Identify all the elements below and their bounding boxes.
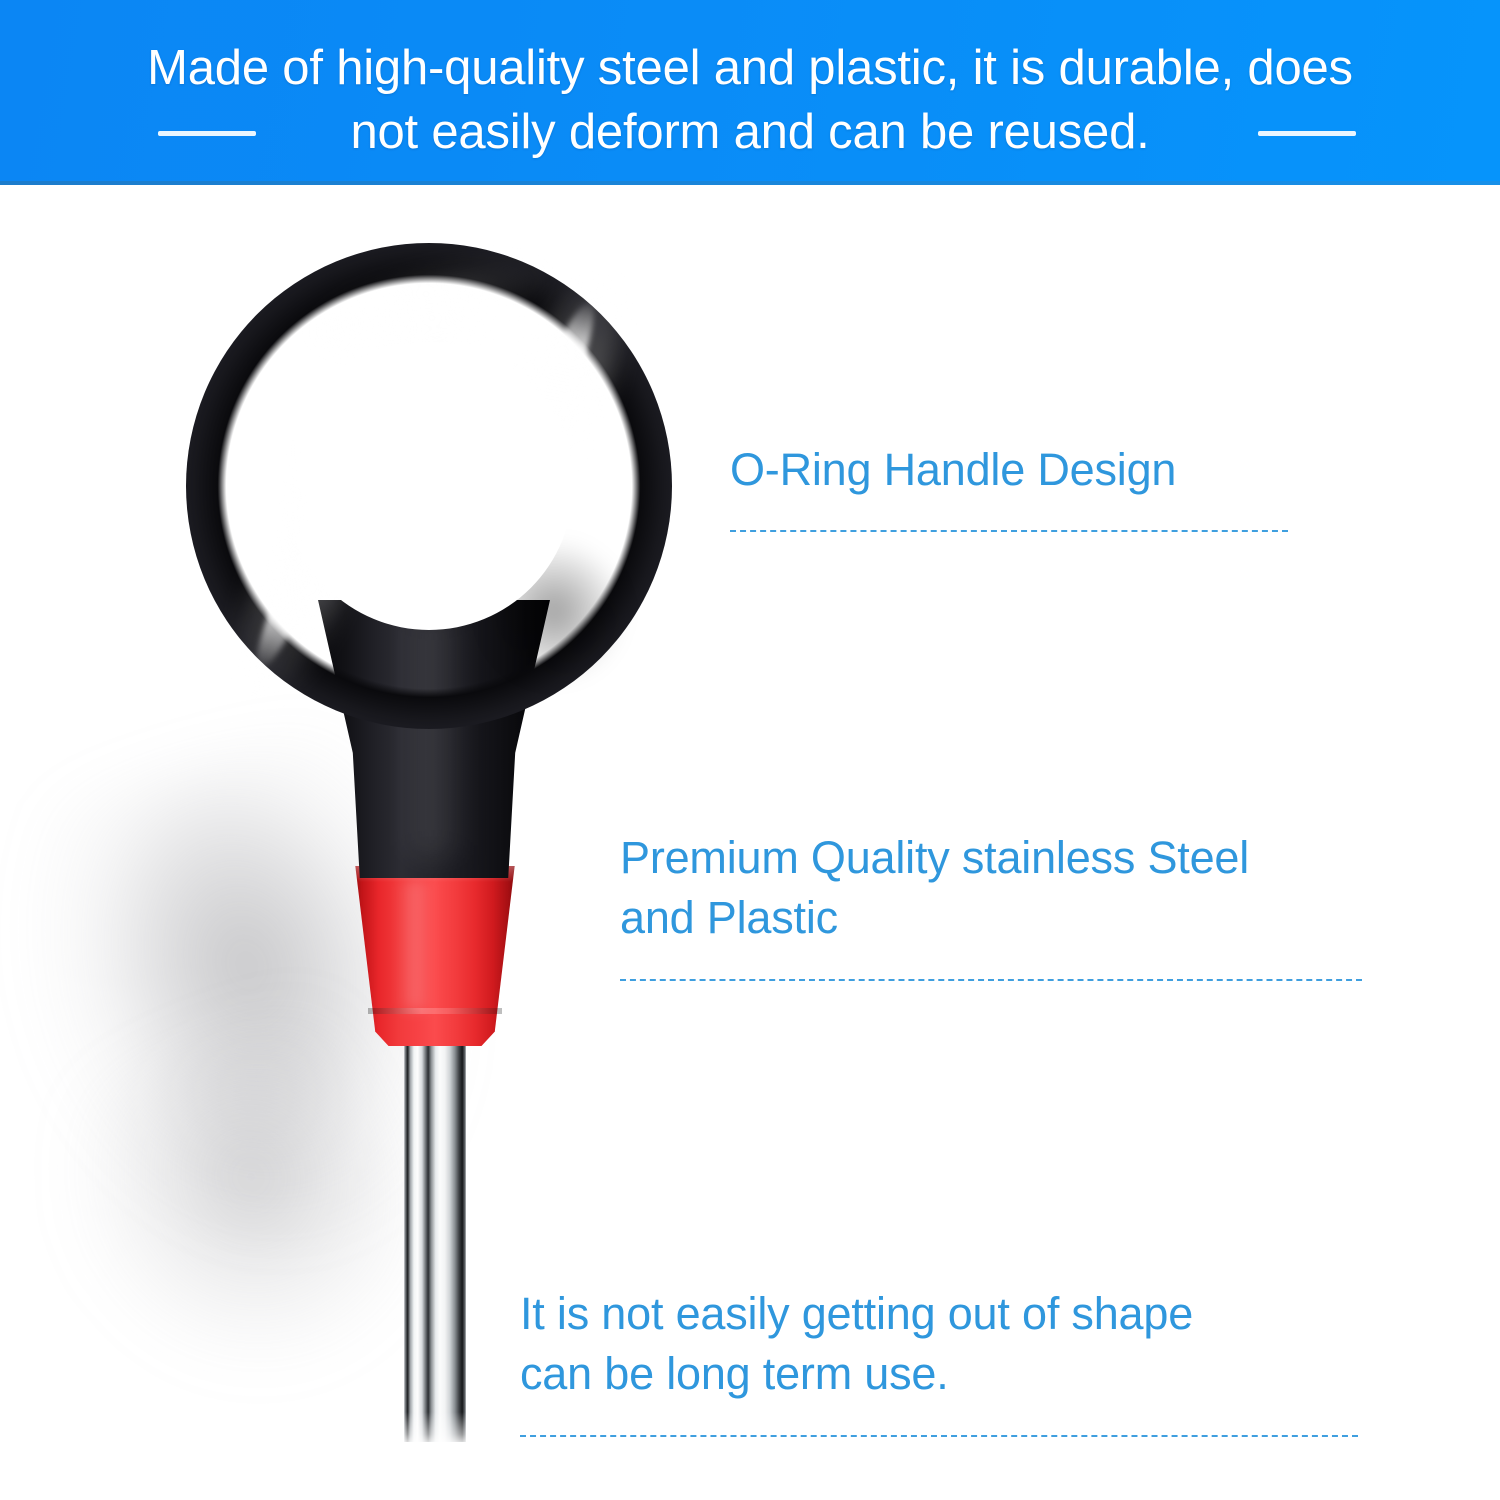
feature-1-divider — [730, 530, 1288, 532]
banner-divider-left — [158, 131, 256, 136]
header-banner: Made of high-quality steel and plastic, … — [0, 0, 1500, 185]
feature-callout-premium-quality-material: Premium Quality stainless Steel and Plas… — [620, 828, 1365, 981]
ferrule-highlight — [398, 880, 432, 1010]
feature-3-line-1: It is not easily getting out of shape — [520, 1284, 1360, 1344]
feature-3-divider — [520, 1435, 1358, 1437]
feature-1-line-1: O-Ring Handle Design — [730, 440, 1290, 500]
feature-callout-keeps-its-shape: It is not easily getting out of shape ca… — [520, 1284, 1360, 1437]
product-infographic: Made of high-quality steel and plastic, … — [0, 0, 1500, 1500]
feature-2-line-1: Premium Quality stainless Steel — [620, 828, 1365, 888]
feature-callout-o-ring-handle-design: O-Ring Handle Design — [730, 440, 1290, 532]
banner-headline-line-1: Made of high-quality steel and plastic, … — [0, 44, 1500, 93]
shaft-bottom-fade — [404, 1412, 466, 1444]
red-plastic-ferrule — [352, 866, 518, 1046]
o-ring-handle — [186, 243, 672, 729]
banner-divider-right — [1258, 131, 1356, 136]
stainless-steel-shaft — [404, 1040, 466, 1442]
feature-2-divider — [620, 979, 1362, 981]
banner-bottom-edge — [0, 181, 1500, 185]
o-ring-inner-hole — [285, 342, 573, 630]
feature-2-line-2: and Plastic — [620, 888, 1365, 948]
ferrule-step-ridge — [368, 1008, 502, 1014]
feature-3-line-2: can be long term use. — [520, 1344, 1360, 1404]
